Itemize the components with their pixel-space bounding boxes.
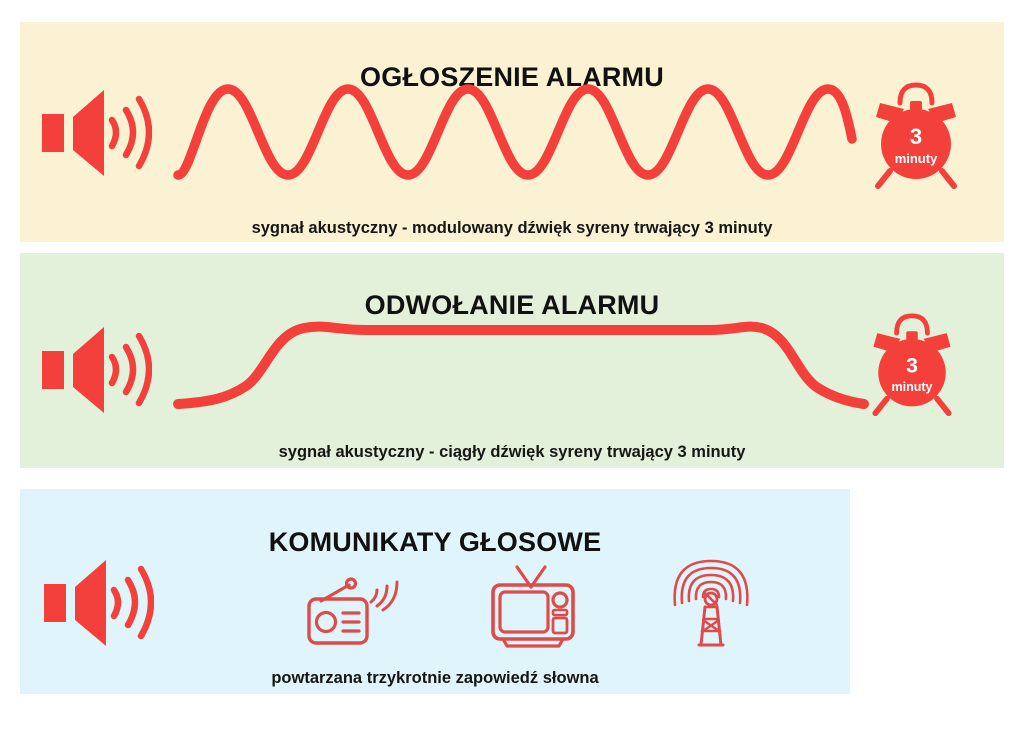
panel-alarm-cancel: ODWOŁANIE ALARMU 3 minuty sygnał akustyc… (20, 253, 1004, 468)
tv-icon (487, 565, 579, 654)
speaker-icon (40, 321, 152, 422)
clock-value: 3 (906, 355, 918, 378)
speaker-icon (42, 554, 154, 655)
clock-unit: minuty (895, 151, 938, 166)
panel-caption-alarm-announcement: sygnał akustyczny - modulowany dźwięk sy… (20, 219, 1004, 238)
alarm-clock-icon: 3 minuty (860, 79, 972, 196)
transmitter-tower-icon (665, 557, 757, 654)
panel-voice-messages: KOMUNIKATY GŁOSOWE (20, 489, 850, 694)
panel-alarm-announcement: OGŁOSZENIE ALARMU 3 minuty sygnał akusty… (20, 22, 1004, 242)
panel-caption-alarm-cancel: sygnał akustyczny - ciągły dźwięk syreny… (20, 443, 1004, 462)
media-icon-group (275, 551, 755, 646)
clock-unit: minuty (891, 380, 932, 394)
radio-icon (305, 575, 401, 652)
panel-caption-voice-messages: powtarzana trzykrotnie zapowiedź słowna (20, 669, 850, 688)
alarm-clock-icon: 3 minuty (858, 310, 966, 423)
speaker-icon (40, 84, 152, 185)
waveform-continuous-plateau (170, 298, 870, 423)
clock-value: 3 (910, 124, 922, 149)
waveform-modulated-sine (170, 77, 860, 192)
